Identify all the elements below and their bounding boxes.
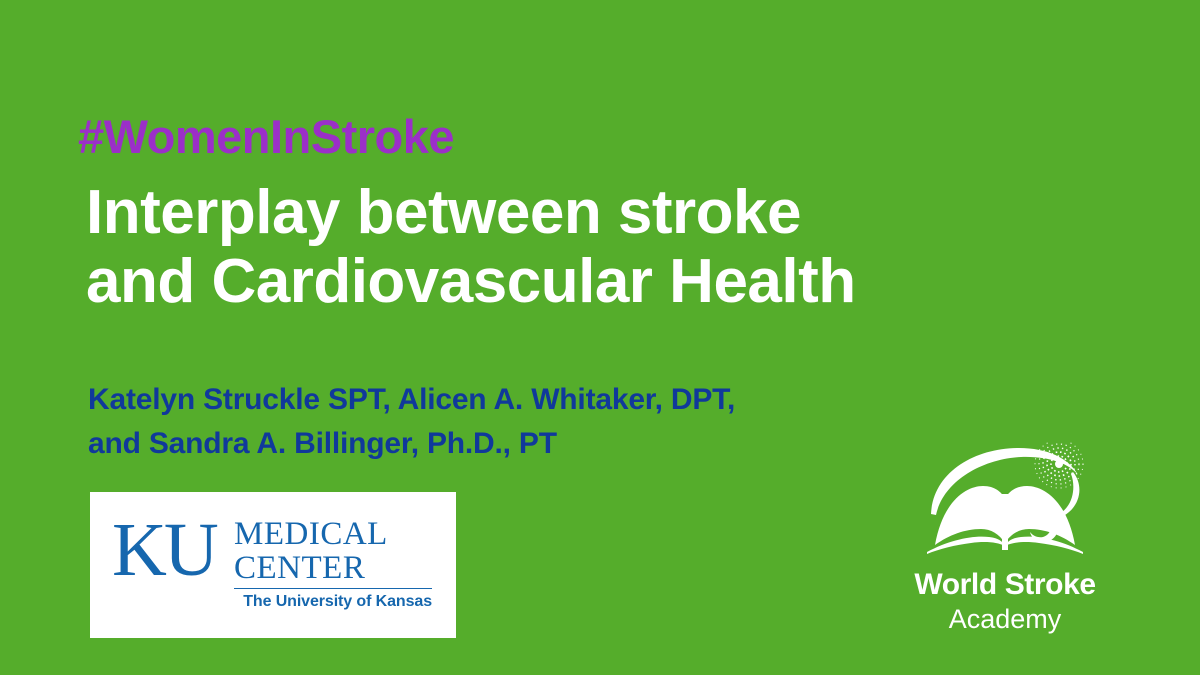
ku-tagline: The University of Kansas (234, 593, 432, 611)
ku-divider-rule (234, 588, 432, 589)
ku-medical-center-logo: KU MEDICAL CENTER The University of Kans… (90, 492, 456, 638)
ku-logo-inner: KU MEDICAL CENTER The University of Kans… (112, 516, 434, 616)
wsa-line-academy: Academy (885, 603, 1125, 635)
hashtag-label: #WomenInStroke (78, 113, 454, 160)
open-book-with-sunburst-icon (923, 442, 1093, 564)
ku-wordmark: MEDICAL CENTER The University of Kansas (234, 518, 434, 611)
wsa-wordmark: World Stroke Academy (885, 568, 1125, 635)
ku-monogram-icon: KU (112, 516, 232, 590)
page-title: Interplay between stroke and Cardiovascu… (86, 178, 1166, 317)
title-line-1: Interplay between stroke (86, 178, 1166, 247)
ku-word-medical: MEDICAL (234, 518, 434, 552)
title-line-2: and Cardiovascular Health (86, 247, 1166, 316)
ku-word-center: CENTER (234, 552, 434, 586)
world-stroke-academy-logo: World Stroke Academy (885, 442, 1125, 647)
author-line-1: Katelyn Struckle SPT, Alicen A. Whitaker… (88, 378, 1148, 422)
wsa-line-world-stroke: World Stroke (885, 568, 1125, 603)
presentation-title-slide: #WomenInStroke Interplay between stroke … (0, 0, 1200, 675)
